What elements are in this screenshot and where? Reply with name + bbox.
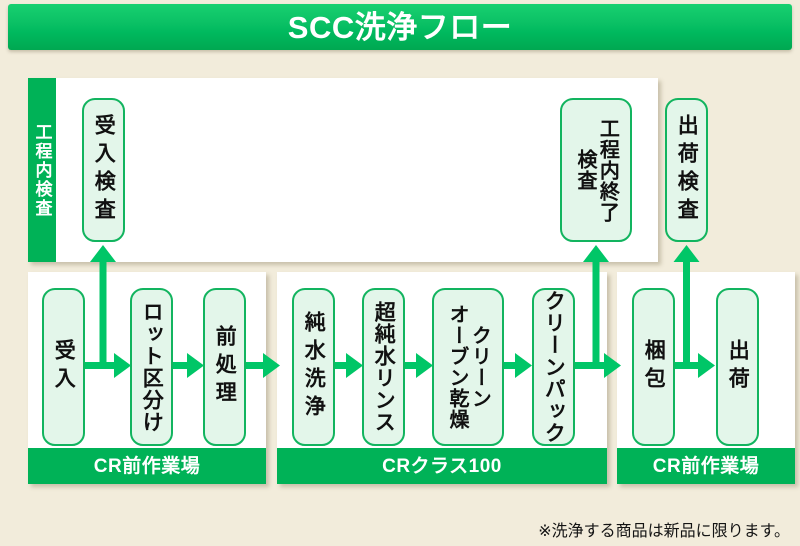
process-group-footer: CR前作業場 [28,448,266,484]
process-group-footer-label: CR前作業場 [94,457,200,476]
inspection-box-label: 出荷検査 [675,114,699,226]
flow-diagram-root: SCC洗浄フロー 工程内検査 受入検査 工程内終了 検査 出荷検査 CR前作業場… [0,0,800,546]
process-step-pure-water-cleaning[interactable]: 純水洗浄 [292,288,335,446]
process-step-label: 梱包 [642,339,666,395]
inspection-box-label-right: 工程内終了 [596,118,618,223]
process-step-label: 純水洗浄 [302,311,326,423]
process-step-clean-pack[interactable]: クリーンパック [532,288,575,446]
inspection-box-label-left: 検査 [574,149,596,191]
process-step-label: ロット区分け [140,301,164,433]
footnote: ※洗浄する商品は新品に限ります。 [538,524,790,540]
page-title: SCC洗浄フロー [288,12,512,43]
process-group-footer: CRクラス100 [277,448,607,484]
process-group-footer: CR前作業場 [617,448,795,484]
process-step-label-left: オーブン乾燥 [446,304,468,430]
inspection-box-in-process-final-inspection[interactable]: 工程内終了 検査 [560,98,632,242]
process-step-ultrapure-water-rinse[interactable]: 超純水リンス [362,288,405,446]
process-step-label-right: クリーン [468,325,490,409]
title-banner: SCC洗浄フロー [8,4,792,50]
process-step-label: クリーンパック [542,290,566,444]
process-group-footer-label: CR前作業場 [653,457,759,476]
inspection-box-shipping-inspection[interactable]: 出荷検査 [665,98,708,242]
process-step-receiving[interactable]: 受入 [42,288,85,446]
process-step-lot-sorting[interactable]: ロット区分け [130,288,173,446]
process-step-shipping[interactable]: 出荷 [716,288,759,446]
process-step-label: 前処理 [213,325,237,409]
process-step-label: 受入 [52,339,76,395]
process-step-pre-treatment[interactable]: 前処理 [203,288,246,446]
inspection-side-label: 工程内検査 [28,78,56,262]
process-step-clean-oven-drying[interactable]: クリーン オーブン乾燥 [432,288,504,446]
process-step-label: 出荷 [726,339,750,395]
process-group-footer-label: CRクラス100 [382,457,502,476]
inspection-box-label: 受入検査 [92,114,116,226]
inspection-side-label-text: 工程内検査 [34,123,51,218]
process-step-packing[interactable]: 梱包 [632,288,675,446]
process-step-label: 超純水リンス [372,301,396,433]
inspection-box-incoming-inspection[interactable]: 受入検査 [82,98,125,242]
